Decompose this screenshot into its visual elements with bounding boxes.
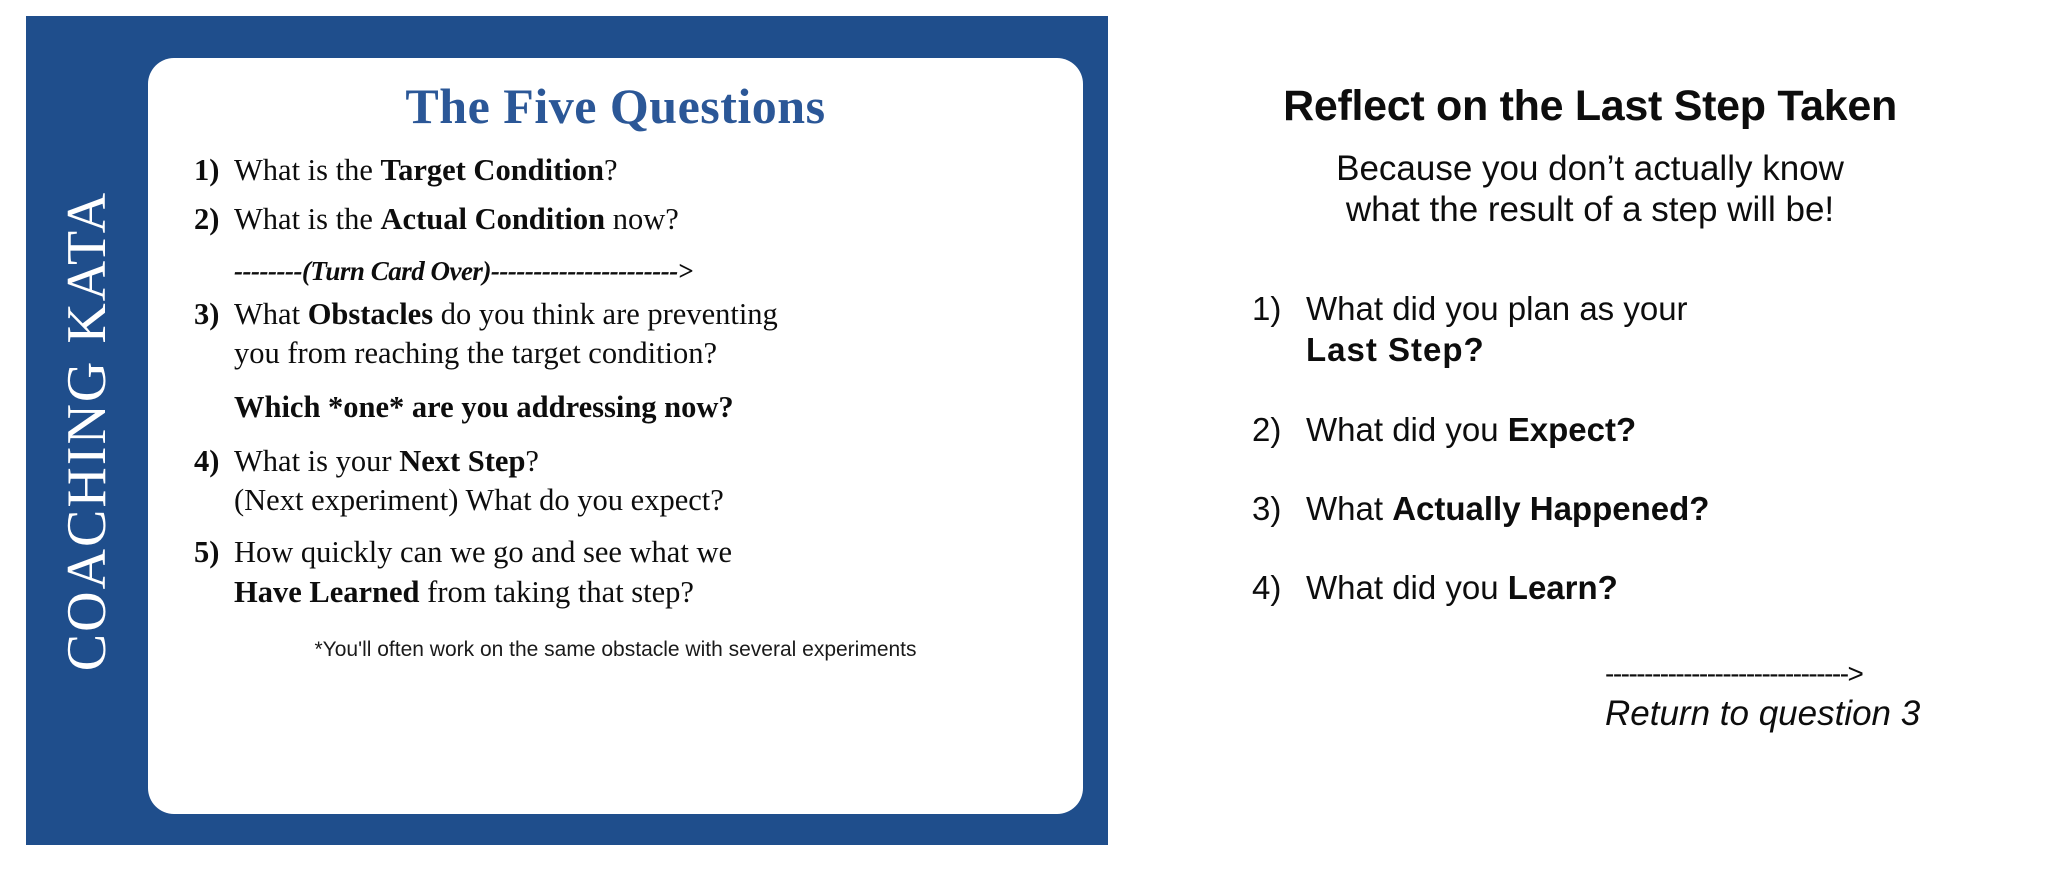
kata-question-5-text: How quickly can we go and see what we Ha… (234, 533, 1057, 612)
reflect-q4-bold: Learn? (1508, 569, 1618, 606)
kata-q3-subline: Which *one* are you addressing now? (234, 388, 1057, 428)
kata-question-3-text: What Obstacles do you think are preventi… (234, 295, 1057, 428)
coaching-kata-inner-panel: The Five Questions 1) What is the Target… (148, 58, 1083, 814)
reflect-question-3-number: 3) (1252, 488, 1306, 529)
turn-card-over-arrow: --------(Turn Card Over)----------------… (148, 250, 1083, 295)
reflect-question-1-text: What did you plan as your Last Step? (1306, 288, 2030, 371)
kata-q5-seg-b: from taking that step? (420, 575, 694, 609)
five-questions-list-continued: 3) What Obstacles do you think are preve… (148, 295, 1083, 612)
return-arrow-icon: -------------------------------> (1605, 660, 2025, 688)
five-questions-title: The Five Questions (148, 80, 1083, 133)
kata-question-1-text: What is the Target Condition? (234, 151, 1057, 191)
kata-question-2: 2) What is the Actual Condition now? (194, 200, 1057, 240)
kata-question-2-number: 2) (194, 200, 234, 240)
kata-q2-seg-b: Actual Condition (381, 202, 606, 236)
coaching-kata-card: COACHING KATA The Five Questions 1) What… (26, 16, 1108, 845)
reflect-question-2-number: 2) (1252, 409, 1306, 450)
kata-question-1-number: 1) (194, 151, 234, 191)
reflect-q3-bold: Actually Happened? (1392, 490, 1709, 527)
reflect-question-1: 1) What did you plan as your Last Step? (1252, 288, 2030, 371)
reflect-question-3-text: What Actually Happened? (1306, 488, 2030, 529)
reflect-subtitle-line-2: what the result of a step will be! (1150, 190, 2030, 231)
kata-q5-line-1: How quickly can we go and see what we (234, 533, 1057, 573)
coaching-kata-spine: COACHING KATA (26, 16, 148, 845)
kata-question-4-number: 4) (194, 442, 234, 482)
kata-question-3: 3) What Obstacles do you think are preve… (194, 295, 1057, 428)
reflect-question-2-text: What did you Expect? (1306, 409, 2030, 450)
reflect-question-4: 4) What did you Learn? (1252, 567, 2030, 608)
five-questions-list: 1) What is the Target Condition? 2) What… (148, 151, 1083, 240)
reflect-question-list: 1) What did you plan as your Last Step? … (1150, 288, 2030, 608)
kata-question-4: 4) What is your Next Step? (Next experim… (194, 442, 1057, 521)
reflect-title: Reflect on the Last Step Taken (1150, 82, 2030, 131)
kata-q4-line-2: (Next experiment) What do you expect? (234, 481, 1057, 521)
reflect-question-3: 3) What Actually Happened? (1252, 488, 2030, 529)
return-to-question-block: -------------------------------> Return … (1605, 660, 2025, 734)
reflect-question-2: 2) What did you Expect? (1252, 409, 2030, 450)
kata-q3-seg-c: do you think are preventing (433, 297, 778, 331)
kata-q1-seg-c: ? (604, 153, 618, 187)
kata-footnote: *You'll often work on the same obstacle … (148, 638, 1083, 662)
kata-q3-line-2: you from reaching the target condition? (234, 334, 1057, 374)
reflect-panel: Reflect on the Last Step Taken Because y… (1150, 0, 2030, 892)
reflect-question-4-text: What did you Learn? (1306, 567, 2030, 608)
reflect-subtitle-line-1: Because you don’t actually know (1150, 149, 2030, 190)
reflect-q4-prefix: What did you (1306, 569, 1508, 606)
kata-q3-seg-a: What (234, 297, 308, 331)
reflect-q1-line-1: What did you plan as your (1306, 290, 1688, 327)
kata-q4-seg-b: Next Step (399, 444, 525, 478)
kata-question-5-number: 5) (194, 533, 234, 573)
kata-q2-seg-c: now? (605, 202, 679, 236)
reflect-q1-line-2: Last Step? (1306, 329, 2030, 370)
kata-question-5: 5) How quickly can we go and see what we… (194, 533, 1057, 612)
reflect-subtitle: Because you don’t actually know what the… (1150, 149, 2030, 230)
kata-question-3-number: 3) (194, 295, 234, 335)
reflect-q2-bold: Expect? (1508, 411, 1636, 448)
kata-q1-seg-b: Target Condition (381, 153, 604, 187)
kata-q1-seg-a: What is the (234, 153, 381, 187)
kata-question-1: 1) What is the Target Condition? (194, 151, 1057, 191)
reflect-q3-prefix: What (1306, 490, 1392, 527)
reflect-question-1-number: 1) (1252, 288, 1306, 329)
kata-question-2-text: What is the Actual Condition now? (234, 200, 1057, 240)
kata-q5-seg-a: Have Learned (234, 575, 420, 609)
kata-q2-seg-a: What is the (234, 202, 381, 236)
kata-q5-line-2: Have Learned from taking that step? (234, 573, 1057, 613)
reflect-question-4-number: 4) (1252, 567, 1306, 608)
kata-q3-line-1: What Obstacles do you think are preventi… (234, 295, 1057, 335)
return-to-question-label: Return to question 3 (1605, 694, 2025, 734)
kata-q3-seg-b: Obstacles (308, 297, 433, 331)
kata-question-4-text: What is your Next Step? (Next experiment… (234, 442, 1057, 521)
reflect-q2-prefix: What did you (1306, 411, 1508, 448)
kata-q4-seg-a: What is your (234, 444, 399, 478)
kata-q4-line-1: What is your Next Step? (234, 442, 1057, 482)
coaching-kata-spine-label: COACHING KATA (55, 190, 119, 670)
kata-q4-seg-c: ? (525, 444, 539, 478)
